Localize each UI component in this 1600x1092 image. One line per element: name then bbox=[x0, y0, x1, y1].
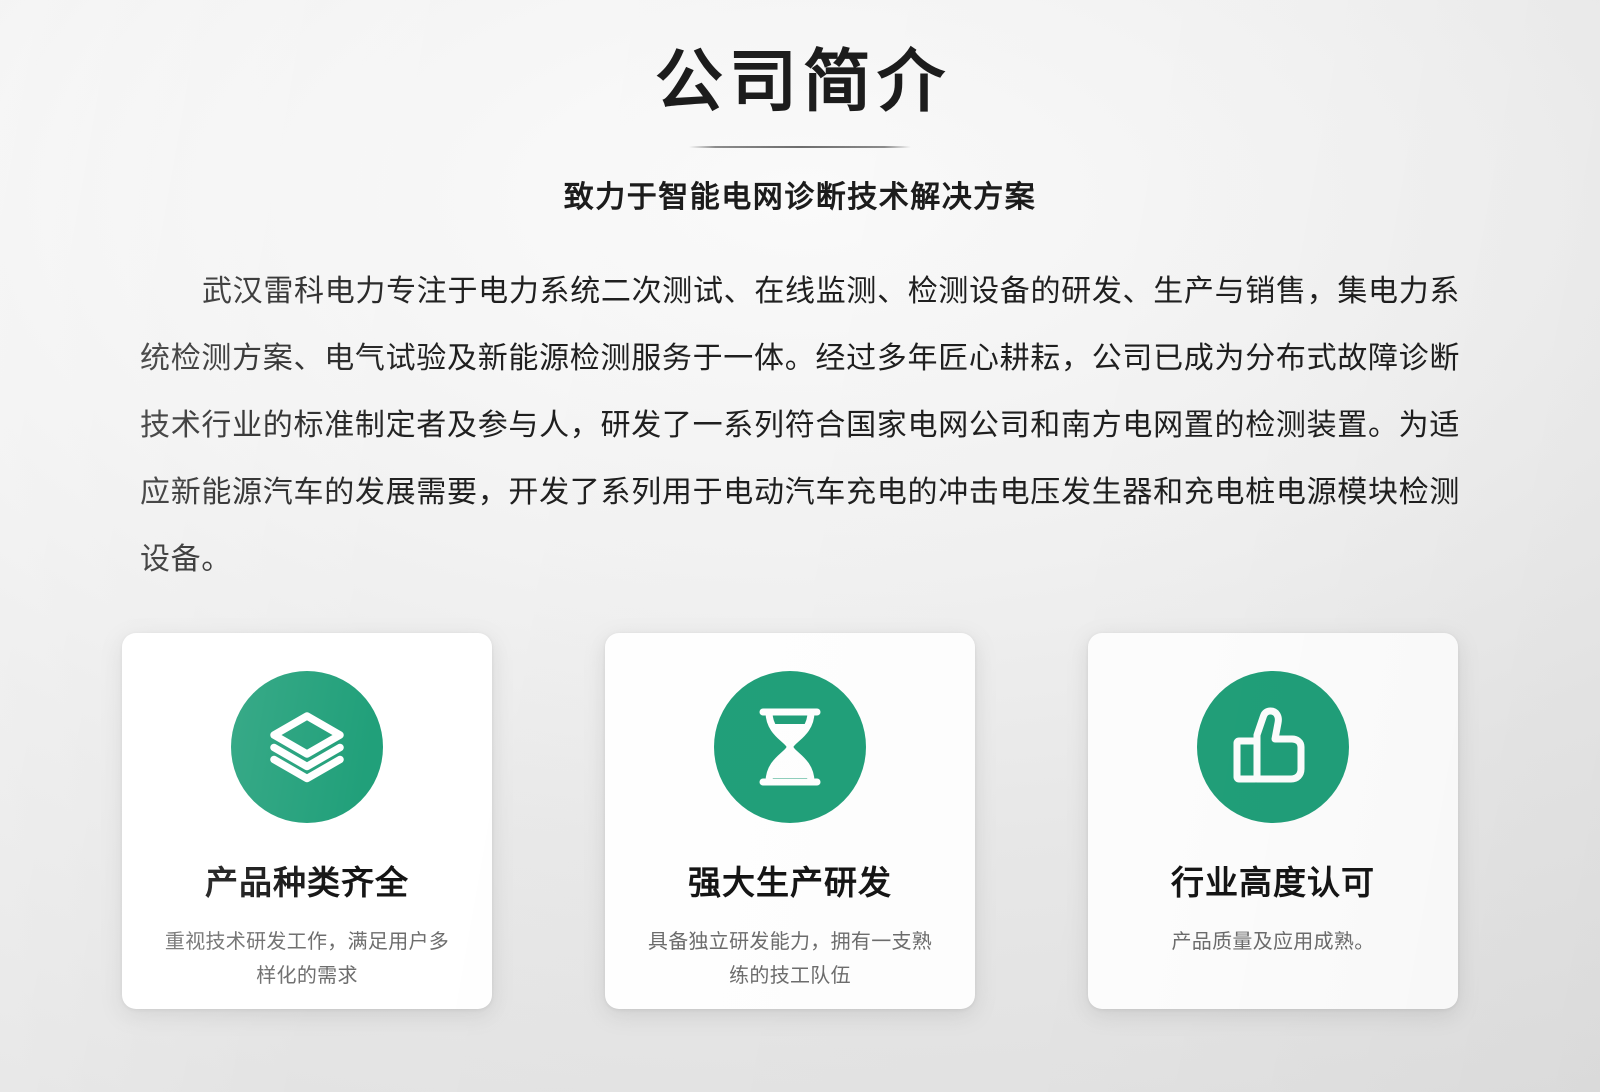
feature-card-industry-recognition[interactable]: 行业高度认可 产品质量及应用成熟。 bbox=[1088, 633, 1458, 1009]
feature-card-description: 具备独立研发能力，拥有一支熟练的技工队伍 bbox=[640, 925, 940, 993]
company-profile-section: 公司简介 致力于智能电网诊断技术解决方案 武汉雷科电力专注于电力系统二次测试、在… bbox=[0, 0, 1600, 1092]
feature-card-title: 产品种类齐全 bbox=[205, 863, 409, 903]
feature-card-title: 强大生产研发 bbox=[688, 863, 892, 903]
feature-card-list: 产品种类齐全 重视技术研发工作，满足用户多样化的需求 bbox=[122, 633, 1458, 1009]
page-title: 公司简介 bbox=[0, 44, 1600, 120]
thumbs-up-icon-badge bbox=[1197, 671, 1349, 823]
hourglass-icon bbox=[751, 706, 829, 788]
section-header: 公司简介 致力于智能电网诊断技术解决方案 bbox=[0, 44, 1600, 216]
layers-icon-badge bbox=[231, 671, 383, 823]
feature-card-description: 产品质量及应用成熟。 bbox=[1123, 925, 1423, 959]
feature-card-description: 重视技术研发工作，满足用户多样化的需求 bbox=[157, 925, 457, 993]
title-divider bbox=[689, 146, 911, 148]
feature-card-rnd[interactable]: 强大生产研发 具备独立研发能力，拥有一支熟练的技工队伍 bbox=[605, 633, 975, 1009]
company-intro-paragraph: 武汉雷科电力专注于电力系统二次测试、在线监测、检测设备的研发、生产与销售，集电力… bbox=[140, 258, 1460, 593]
feature-card-product-range[interactable]: 产品种类齐全 重视技术研发工作，满足用户多样化的需求 bbox=[122, 633, 492, 1009]
feature-card-title: 行业高度认可 bbox=[1171, 863, 1375, 903]
page-subtitle: 致力于智能电网诊断技术解决方案 bbox=[0, 172, 1600, 216]
thumbs-up-icon bbox=[1231, 705, 1315, 789]
hourglass-icon-badge bbox=[714, 671, 866, 823]
layers-icon bbox=[266, 706, 348, 788]
